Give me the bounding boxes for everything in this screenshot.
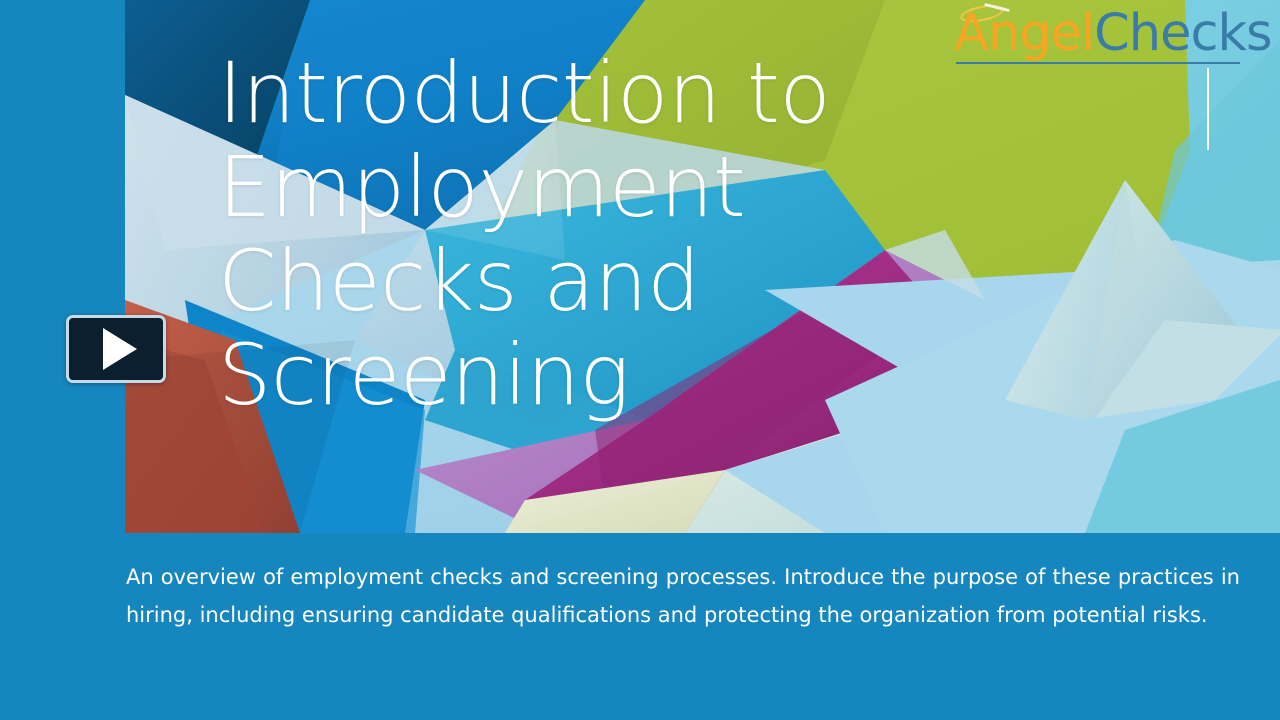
slide-canvas: Introduction to Employment Checks and Sc… <box>0 0 1280 720</box>
text-caret-line <box>1207 68 1209 150</box>
logo-text-angel: Angel <box>954 4 1094 63</box>
logo-wordmark: AngelChecks <box>954 6 1272 62</box>
play-icon <box>103 328 137 370</box>
slide-title: Introduction to Employment Checks and Sc… <box>218 46 938 422</box>
play-button[interactable] <box>66 315 166 383</box>
angelchecks-logo[interactable]: AngelChecks <box>954 4 1244 66</box>
logo-text-checks: Checks <box>1094 4 1271 63</box>
logo-underline <box>956 62 1240 64</box>
slide-body-text: An overview of employment checks and scr… <box>126 558 1240 634</box>
